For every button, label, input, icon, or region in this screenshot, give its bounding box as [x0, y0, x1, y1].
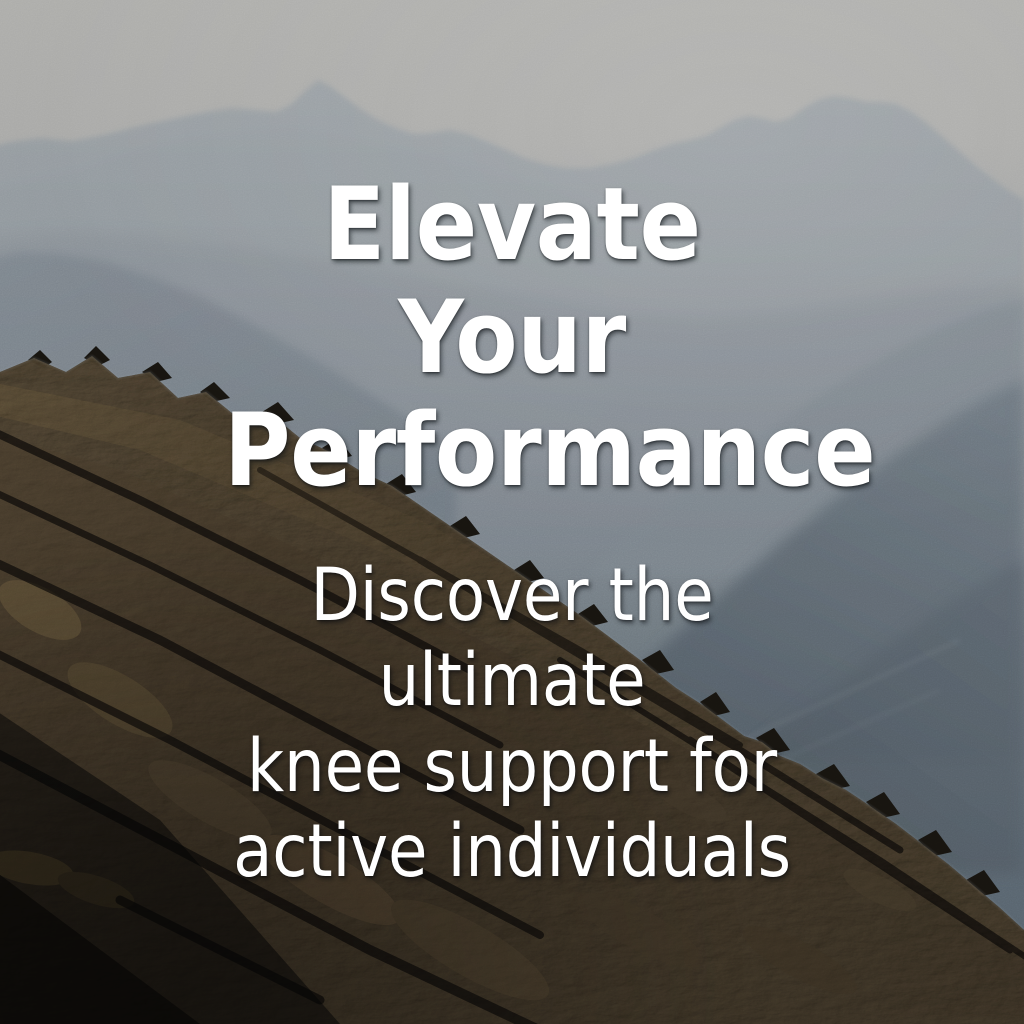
- page-subtitle: Discover the ultimate knee support for a…: [204, 553, 820, 895]
- hero-banner: Elevate Your Performance Discover the ul…: [0, 0, 1024, 1024]
- hero-copy-block: Elevate Your Performance Discover the ul…: [0, 0, 1024, 1024]
- page-title: Elevate Your Performance: [224, 168, 800, 507]
